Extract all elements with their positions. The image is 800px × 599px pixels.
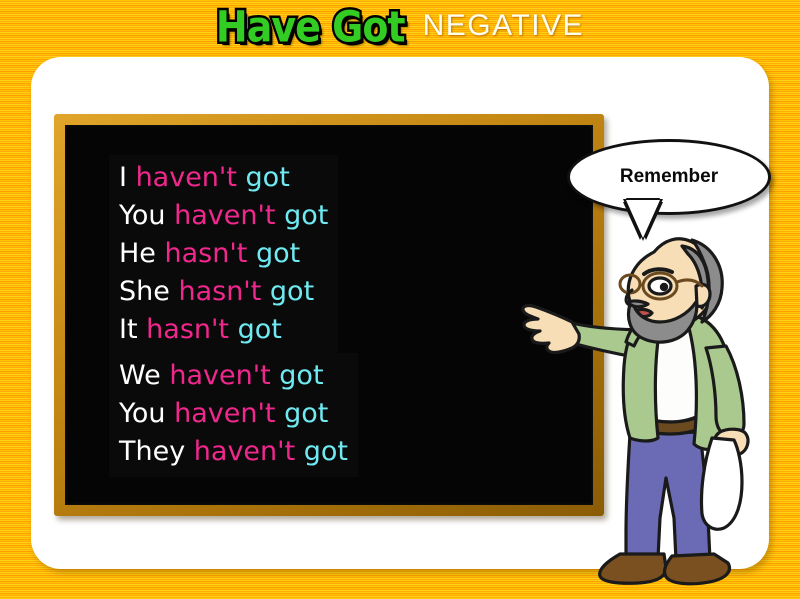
negative-contraction: hasn't [165,238,248,269]
pronoun: She [119,276,170,307]
verb-got: got [270,276,314,307]
page-subtitle: NEGATIVE [423,11,584,41]
conjugation-line: He hasn't got [119,235,328,273]
pronoun: He [119,238,156,269]
teacher-character [506,218,786,598]
ear [696,284,710,306]
pronoun: You [119,398,166,429]
shoe-right [665,554,730,584]
conjugation-line: You haven't got [119,197,328,235]
negative-contraction: haven't [174,398,275,429]
verb-got: got [256,238,300,269]
verb-got: got [284,200,328,231]
slide-canvas: Have Got NEGATIVE I haven't got You have… [0,0,800,599]
conjugation-line: You haven't got [119,395,348,433]
conjugation-line: It hasn't got [119,311,328,349]
paper-sheet [701,438,742,529]
negative-contraction: haven't [194,436,295,467]
verb-got: got [279,360,323,391]
verb-got: got [304,436,348,467]
plural-conjugation-block: We haven't got You haven't got They have… [109,353,358,477]
singular-conjugation-block: I haven't got You haven't got He hasn't … [109,155,338,355]
trousers [626,432,710,560]
shoe-left [600,554,666,583]
negative-contraction: haven't [136,162,237,193]
slide-title-bar: Have Got NEGATIVE [0,0,800,52]
negative-contraction: haven't [169,360,270,391]
pronoun: It [119,314,138,345]
speech-bubble: Remember [567,139,771,215]
conjugation-line: They haven't got [119,433,348,471]
negative-contraction: haven't [174,200,275,231]
pronoun: We [119,360,161,391]
negative-contraction: hasn't [146,314,229,345]
verb-got: got [284,398,328,429]
verb-got: got [246,162,290,193]
pointing-hand [523,306,579,353]
page-title: Have Got [216,6,405,49]
verb-got: got [238,314,282,345]
negative-contraction: hasn't [178,276,261,307]
speech-bubble-label: Remember [620,166,718,188]
pronoun: I [119,162,127,193]
moustache [628,301,648,307]
pupil [660,283,668,291]
conjugation-line: I haven't got [119,159,328,197]
pronoun: You [119,200,166,231]
pronoun: They [119,436,185,467]
conjugation-line: We haven't got [119,357,348,395]
conjugation-line: She hasn't got [119,273,328,311]
